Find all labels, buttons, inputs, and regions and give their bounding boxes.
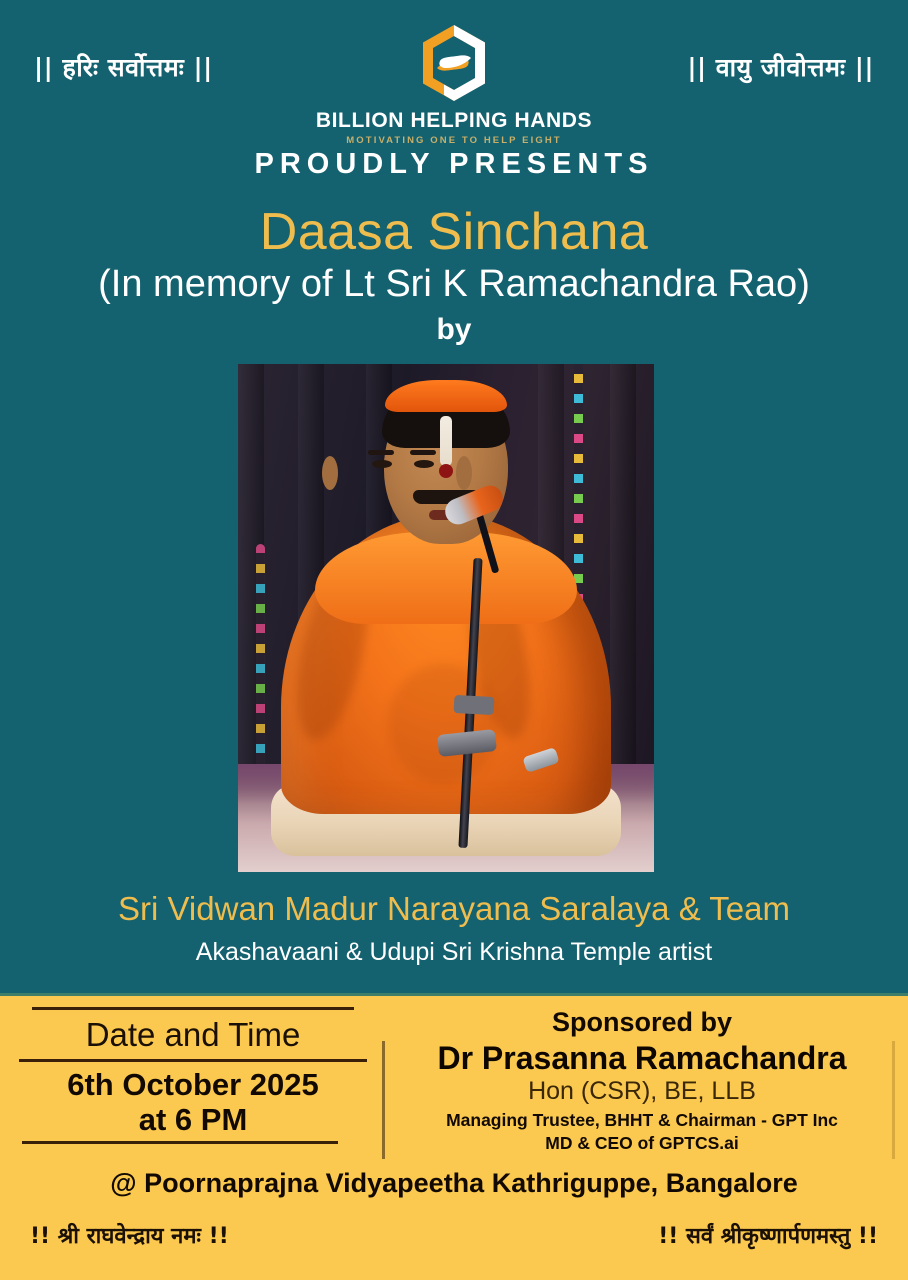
organization-logo-block: BILLION HELPING HANDS MOTIVATING ONE TO … <box>304 22 604 146</box>
proudly-presents-text: PROUDLY PRESENTS <box>0 148 908 181</box>
performer-photo <box>238 364 654 872</box>
vertical-divider <box>892 1041 895 1159</box>
decorative-rule <box>22 1141 338 1144</box>
saffron-head-cloth <box>385 380 507 412</box>
section-divider-line <box>0 993 908 996</box>
eye <box>414 460 434 468</box>
eyebrow <box>410 450 436 455</box>
sanskrit-footer-right: !! सर्वं श्रीकृष्णार्पणमस्तु !! <box>658 1220 878 1250</box>
sponsor-qualifications: Hon (CSR), BE, LLB <box>392 1077 892 1107</box>
poster-header: || हरिः सर्वोत्तमः || BILLION HELPING HA… <box>0 22 908 137</box>
performer-figure <box>238 364 654 872</box>
logo-tagline: MOTIVATING ONE TO HELP EIGHT <box>304 135 604 146</box>
sponsor-role-line-1: Managing Trustee, BHHT & Chairman - GPT … <box>392 1109 892 1132</box>
robe-fold <box>388 664 498 784</box>
sanskrit-invocation-left: || हरिः सर्वोत्तमः || <box>34 50 213 84</box>
sponsor-name: Dr Prasanna Ramachandra <box>392 1040 892 1076</box>
event-time: at 6 PM <box>18 1103 368 1138</box>
event-venue: @ Poornaprajna Vidyapeetha Kathriguppe, … <box>0 1168 908 1199</box>
microphone-clamp <box>454 695 495 715</box>
eyebrow <box>368 450 394 455</box>
sanskrit-footer-left: !! श्री राघवेन्द्राय नमः !! <box>30 1220 229 1250</box>
urdhva-pundra-tilak <box>440 416 452 466</box>
vertical-divider <box>382 1041 385 1159</box>
eye <box>372 460 392 468</box>
ear <box>456 456 472 490</box>
artist-affiliation: Akashavaani & Udupi Sri Krishna Temple a… <box>0 938 908 967</box>
date-time-heading: Date and Time <box>18 1010 368 1057</box>
event-title: Daasa Sinchana <box>0 202 908 262</box>
sanskrit-invocation-right: || वायु जीवोत्तमः || <box>687 50 874 84</box>
logo-wordmark: BILLION HELPING HANDS <box>304 110 604 131</box>
event-date: 6th October 2025 <box>18 1068 368 1103</box>
event-memorial-dedication: (In memory of Lt Sri K Ramachandra Rao) <box>0 263 908 306</box>
sponsored-by-heading: Sponsored by <box>392 1007 892 1039</box>
ear <box>322 456 338 490</box>
helping-hands-hexagon-logo-icon <box>417 22 491 104</box>
decorative-rule <box>19 1059 367 1062</box>
by-label: by <box>0 313 908 347</box>
event-poster: || हरिः सर्वोत्तमः || BILLION HELPING HA… <box>0 0 908 1280</box>
artist-name: Sri Vidwan Madur Narayana Saralaya & Tea… <box>0 890 908 928</box>
sponsor-block: Sponsored by Dr Prasanna Ramachandra Hon… <box>392 1007 892 1154</box>
shoulder-shawl <box>315 532 577 624</box>
date-and-time-block: Date and Time 6th October 2025 at 6 PM <box>18 1007 368 1138</box>
sponsor-role-line-2: MD & CEO of GPTCS.ai <box>392 1132 892 1155</box>
